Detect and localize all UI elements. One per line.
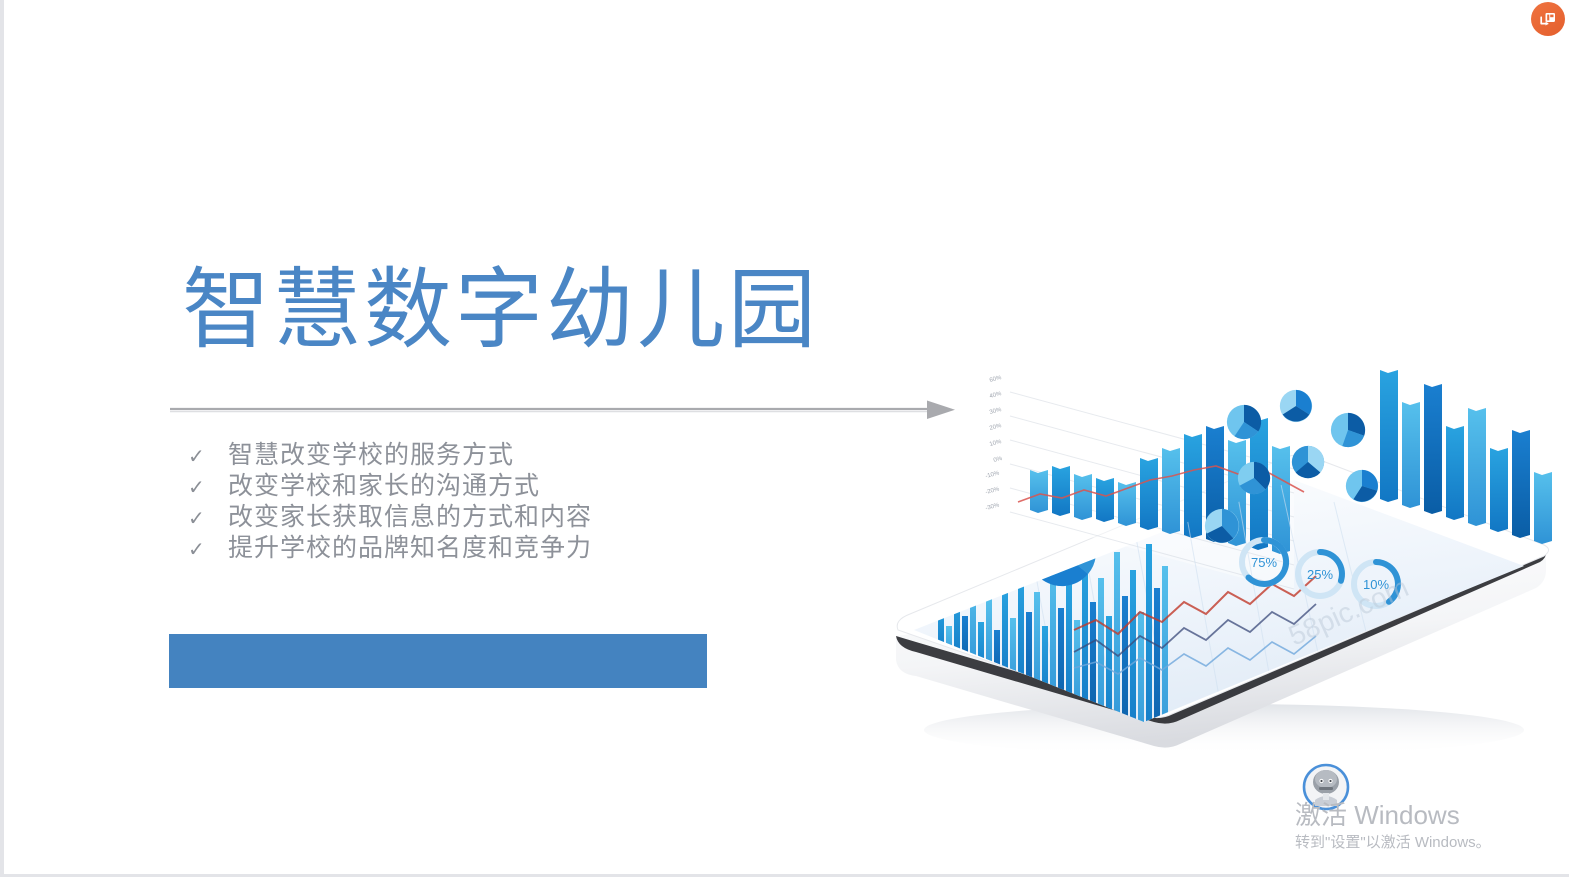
- accent-bar: [169, 634, 707, 688]
- list-item-label: 改变家长获取信息的方式和内容: [228, 502, 592, 533]
- page-title: 智慧数字幼儿园: [182, 264, 819, 356]
- list-item-label: 智慧改变学校的服务方式: [228, 440, 514, 471]
- windows-activation-watermark: 激活 Windows 转到"设置"以激活 Windows。: [1295, 800, 1565, 854]
- check-icon: ✓: [180, 473, 228, 504]
- svg-text:-30%: -30%: [985, 502, 1001, 512]
- svg-text:-20%: -20%: [985, 486, 1001, 496]
- activation-title: 激活 Windows: [1295, 800, 1565, 830]
- svg-text:10%: 10%: [989, 439, 1003, 448]
- presentation-slide: 智慧数字幼儿园 ✓ 智慧改变学校的服务方式 ✓ 改变学校和家长的沟通方式 ✓ 改…: [0, 0, 1569, 877]
- list-item: ✓ 智慧改变学校的服务方式: [180, 440, 800, 471]
- svg-text:60%: 60%: [989, 375, 1003, 384]
- check-icon: ✓: [180, 442, 228, 473]
- tablet-data-analytics-illustration: 60% 40% 30% 20% 10% 0% -10% -20% -30%: [824, 330, 1569, 760]
- svg-text:25%: 25%: [1307, 567, 1333, 582]
- svg-text:30%: 30%: [989, 407, 1003, 416]
- bullet-list: ✓ 智慧改变学校的服务方式 ✓ 改变学校和家长的沟通方式 ✓ 改变家长获取信息的…: [180, 440, 800, 564]
- list-item-label: 提升学校的品牌知名度和竞争力: [228, 533, 592, 564]
- presentation-share-icon[interactable]: [1531, 2, 1565, 36]
- svg-text:20%: 20%: [989, 423, 1003, 432]
- svg-text:0%: 0%: [993, 456, 1004, 464]
- list-item: ✓ 改变家长获取信息的方式和内容: [180, 502, 800, 533]
- check-icon: ✓: [180, 535, 228, 566]
- svg-text:40%: 40%: [989, 391, 1003, 400]
- check-icon: ✓: [180, 504, 228, 535]
- svg-text:-10%: -10%: [985, 470, 1001, 480]
- svg-text:75%: 75%: [1251, 555, 1277, 570]
- activation-subtitle: 转到"设置"以激活 Windows。: [1295, 832, 1565, 854]
- list-item: ✓ 改变学校和家长的沟通方式: [180, 471, 800, 502]
- list-item-label: 改变学校和家长的沟通方式: [228, 471, 540, 502]
- list-item: ✓ 提升学校的品牌知名度和竞争力: [180, 533, 800, 564]
